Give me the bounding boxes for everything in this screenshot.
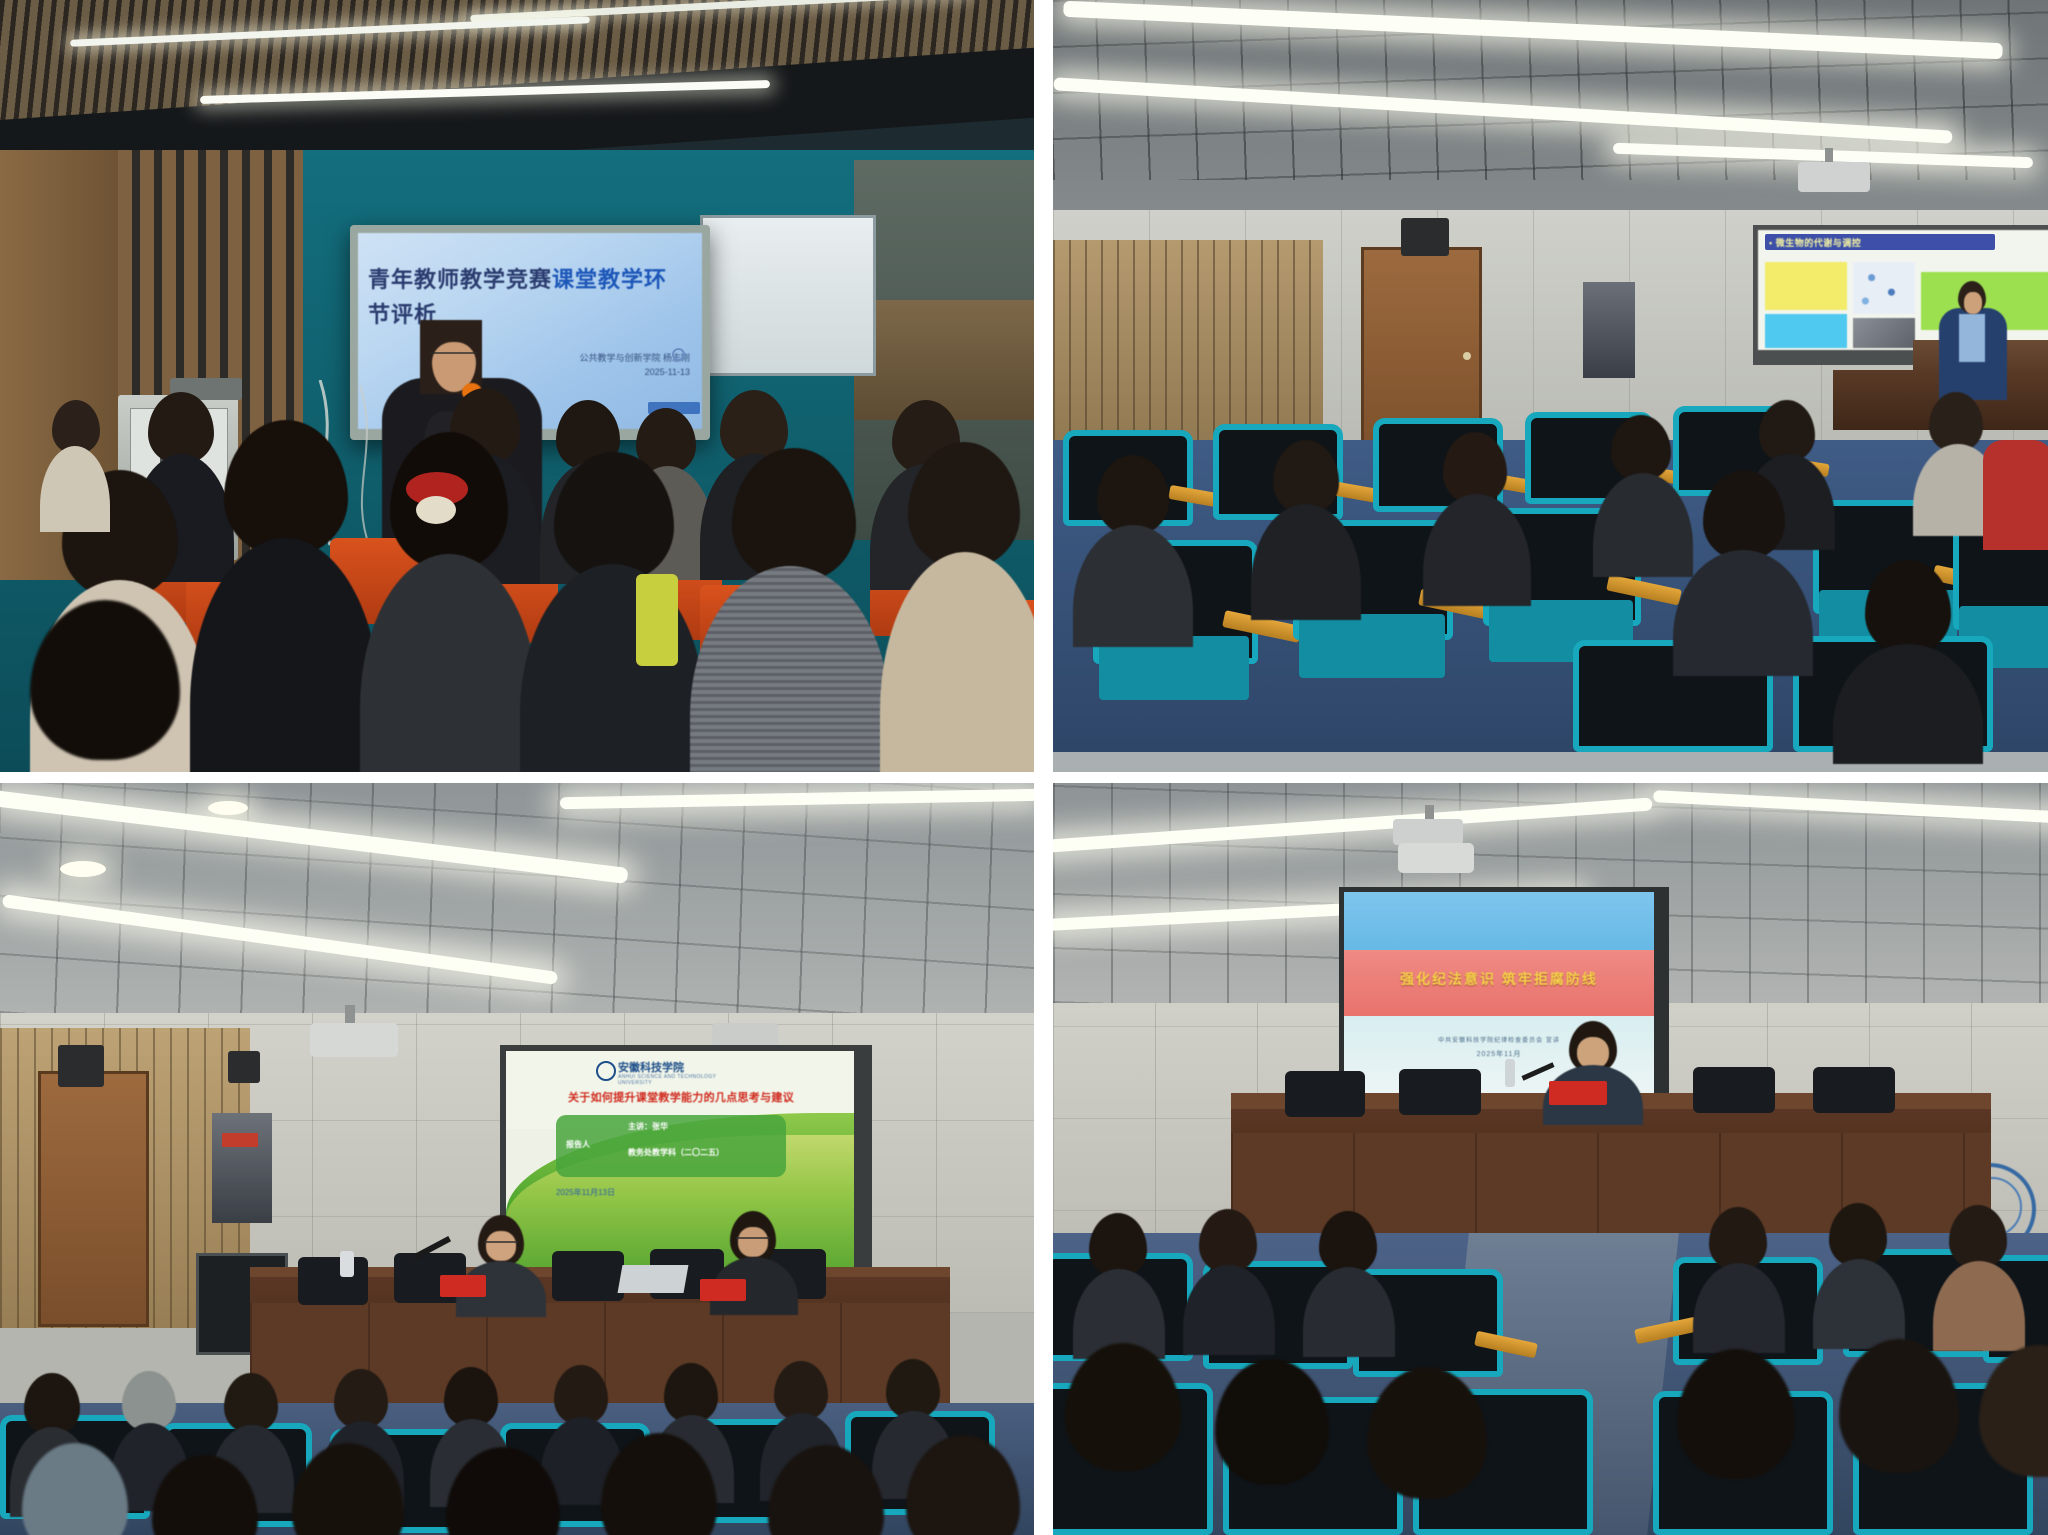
ceiling-projector: [1393, 819, 1463, 845]
audience-person: [1193, 1359, 1353, 1483]
panel-chair[interactable]: [298, 1257, 368, 1305]
whiteboard: [700, 215, 876, 376]
slide-bullet-icon: [672, 348, 685, 361]
hall-door[interactable]: [38, 1071, 149, 1327]
audience-person: [1933, 1205, 2025, 1345]
wall-speaker: [1401, 218, 1449, 256]
presenter-shirt: [1959, 314, 1985, 362]
audience-person: [1073, 455, 1193, 635]
slide-title-highlight: 课堂教学环: [552, 267, 667, 292]
name-placard: [700, 1279, 746, 1301]
audience-person: [1693, 1207, 1785, 1347]
panel-chair[interactable]: [1813, 1067, 1895, 1113]
audience-person: [268, 1443, 428, 1535]
audience-person: [520, 452, 705, 772]
ceiling-projector: [1798, 162, 1870, 192]
presenter-face: [1964, 292, 1982, 314]
slide-title-line1: 青年教师教学竞赛: [368, 267, 552, 292]
laptop: [618, 1265, 689, 1293]
door-handle[interactable]: [1463, 352, 1471, 360]
photo-bottom-right[interactable]: 强化纪法意识 筑牢拒腐防线 中共安徽科技学院纪律检查委员会 宣讲 2025年11…: [1053, 783, 2048, 1535]
audience-person: [190, 420, 380, 772]
slide-title: 关于如何提升课堂教学能力的几点思考与建议: [514, 1089, 848, 1105]
slide-block-yellow: [1765, 262, 1847, 310]
slide-title-block: 青年教师教学竞赛课堂教学环 节评析: [368, 262, 668, 332]
wall-speaker: [228, 1051, 260, 1083]
slide-header-text: ▪ 微生物的代谢与调控: [1769, 236, 1994, 249]
water-glass: [340, 1251, 354, 1277]
audience-person: [1423, 432, 1531, 602]
audience-person: [1183, 1209, 1275, 1349]
wall-speaker: [58, 1045, 104, 1087]
audience-person: [1073, 1213, 1165, 1353]
audience-person: [1673, 470, 1813, 670]
wall-poster: [1583, 282, 1635, 378]
audience-person: [1343, 1367, 1513, 1497]
photo-bottom-left[interactable]: 安徽科技学院 ANHUI SCIENCE AND TECHNOLOGY UNIV…: [0, 783, 1034, 1535]
audience-person-red: [1983, 440, 2048, 550]
slide-presenter-name: 主讲：张华: [628, 1121, 778, 1132]
ceiling-downlight: [208, 801, 248, 815]
slide-band-top: [1344, 892, 1654, 950]
ceiling-projector: [1398, 843, 1474, 873]
slide-title-line2: 节评析: [368, 297, 668, 332]
backpack-strap: [636, 574, 678, 666]
slide-department: 教务处教学科（二〇二五）: [628, 1147, 778, 1158]
audience-person: [880, 1435, 1034, 1535]
slide-image-gray: [1853, 318, 1915, 348]
slide-organization: 公共教学与创新学院 杨志刚: [520, 352, 690, 366]
panel-chair[interactable]: [1693, 1067, 1775, 1113]
audience-person: [1653, 1349, 1818, 1477]
glasses-icon: [736, 1237, 770, 1245]
presenter-glasses-icon: [430, 352, 478, 365]
photo-top-right[interactable]: ▪ 微生物的代谢与调控: [1053, 0, 2048, 772]
panel-chair[interactable]: [552, 1251, 624, 1301]
ceiling-downlight: [60, 861, 106, 877]
audience-person: [880, 442, 1034, 772]
slide-credit-block: 公共教学与创新学院 杨志刚 2025-11-13: [520, 352, 690, 380]
audience-person: [360, 432, 538, 772]
slide-date: 2025-11-13: [520, 366, 690, 380]
slide-image-micrograph: [1853, 262, 1915, 314]
name-placard: [1549, 1081, 1607, 1105]
audience-person: [40, 400, 110, 530]
university-logo-icon: [596, 1061, 616, 1081]
university-name-english: ANHUI SCIENCE AND TECHNOLOGY UNIVERSITY: [618, 1074, 748, 1086]
photo-top-left[interactable]: 青年教师教学竞赛课堂教学环 节评析 公共教学与创新学院 杨志刚 2025-11-…: [0, 0, 1034, 772]
audience-person: [1813, 1203, 1905, 1343]
panel-chair[interactable]: [1285, 1071, 1365, 1117]
audience-person: [690, 448, 890, 772]
wall-poster: [212, 1113, 272, 1223]
audience-person: [130, 1455, 280, 1535]
audience-person: [0, 600, 210, 772]
ceiling-projector: [310, 1023, 398, 1057]
hair-tie: [416, 496, 456, 524]
slide-date: 2025年11月13日: [556, 1187, 676, 1198]
slide-title: 强化纪法意识 筑牢拒腐防线: [1347, 969, 1651, 989]
poster-tag: [222, 1133, 258, 1147]
audience-person: [1251, 440, 1361, 616]
slide-block-blue: [1765, 314, 1847, 348]
name-placard: [440, 1275, 486, 1297]
audience-person: [420, 1447, 585, 1535]
audience-person: [1953, 1345, 2048, 1475]
university-name: 安徽科技学院: [618, 1059, 738, 1075]
audience-person: [1833, 560, 1983, 752]
audience-person: [1303, 1211, 1395, 1351]
audience-person: [1053, 1343, 1203, 1469]
audience-person: [0, 1443, 150, 1535]
water-bottle: [1505, 1059, 1515, 1087]
photo-collage: 青年教师教学竞赛课堂教学环 节评析 公共教学与创新学院 杨志刚 2025-11-…: [0, 0, 2048, 1535]
audience-person: [575, 1433, 740, 1535]
glasses-icon: [484, 1241, 518, 1249]
panel-chair[interactable]: [1399, 1069, 1481, 1115]
slide-presenter-label: 报告人: [566, 1139, 626, 1150]
